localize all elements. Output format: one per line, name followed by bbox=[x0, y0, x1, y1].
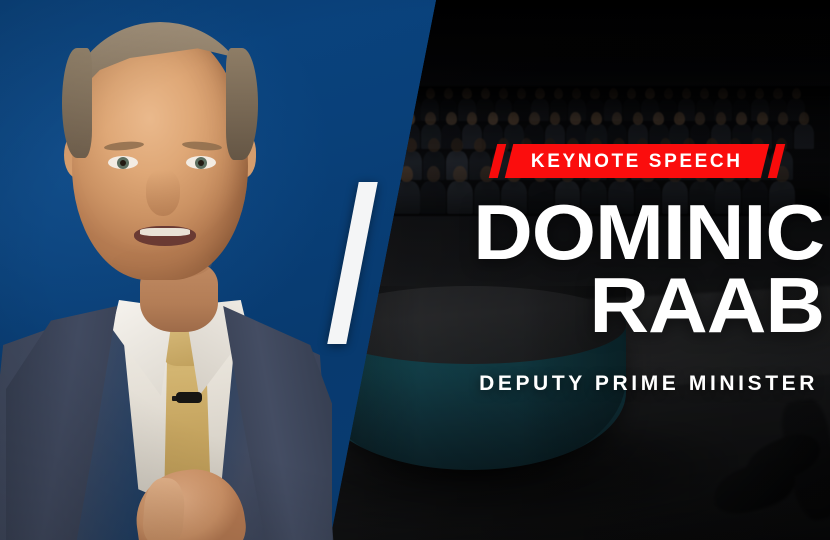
title-line-2: RAAB bbox=[273, 271, 824, 340]
title-line-1: DOMINIC bbox=[273, 198, 824, 267]
badge-label: KEYNOTE SPEECH bbox=[531, 152, 743, 171]
subtitle-role: DEPUTY PRIME MINISTER bbox=[479, 372, 818, 396]
hair-side-right bbox=[226, 48, 258, 160]
keynote-badge: KEYNOTE SPEECH bbox=[493, 144, 781, 178]
eye-right bbox=[186, 156, 216, 169]
lapel-microphone-icon bbox=[176, 392, 202, 403]
badge-banner: KEYNOTE SPEECH bbox=[505, 144, 769, 178]
chin-shading bbox=[112, 246, 212, 280]
nose bbox=[146, 170, 180, 216]
title-block: DOMINIC RAAB bbox=[304, 198, 824, 339]
title-card-graphic: KEYNOTE SPEECH DOMINIC RAAB DEPUTY PRIME… bbox=[0, 0, 830, 540]
hair-side-left bbox=[62, 48, 92, 158]
teeth bbox=[140, 228, 190, 236]
mouth bbox=[134, 226, 196, 246]
eye-left bbox=[108, 156, 138, 169]
